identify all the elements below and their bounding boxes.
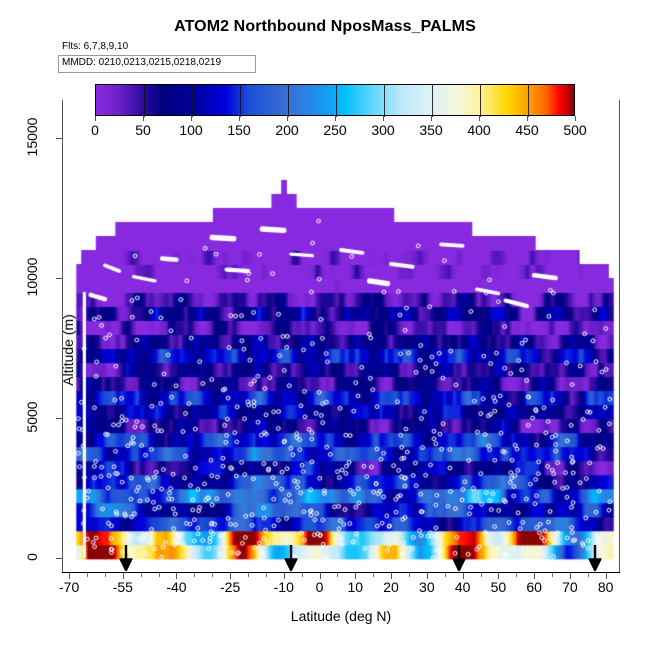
figure-root: ATOM2 Northbound NposMass_PALMS Flts: 6,… (0, 0, 650, 650)
x-axis-tick (409, 573, 410, 577)
y-axis-tick (56, 138, 62, 139)
x-axis-tick-label: -10 (274, 579, 294, 595)
x-axis-tick-label: -40 (166, 579, 186, 595)
x-axis-tick (552, 573, 553, 577)
x-axis-tick (302, 573, 303, 577)
x-axis-tick-label: 70 (562, 579, 578, 595)
x-axis-tick (516, 573, 517, 577)
x-axis-tick (105, 573, 106, 577)
y-axis-tick-label: 0 (24, 535, 40, 579)
x-axis-tick-label: 30 (419, 579, 435, 595)
page-title: ATOM2 Northbound NposMass_PALMS (0, 18, 650, 36)
y-axis-tick-label: 5000 (24, 395, 40, 439)
x-axis-tick-label: 10 (348, 579, 364, 595)
x-axis-tick (159, 573, 160, 577)
flights-label: Flts: 6,7,8,9,10 (62, 41, 128, 52)
x-axis-tick-label: 40 (455, 579, 471, 595)
x-axis-tick-label: 0 (316, 579, 324, 595)
x-axis-tick (248, 573, 249, 577)
x-axis-tick (266, 573, 267, 577)
y-axis-label: Altitude (m) (60, 314, 76, 386)
x-axis-tick-label: -70 (59, 579, 79, 595)
latitude-arrow-marker (588, 545, 601, 571)
y-axis-tick-label: 15000 (24, 115, 40, 159)
mmdd-label: MMDD: 0210,0213,0215,0218,0219 (62, 57, 221, 68)
x-axis-tick-label: -25 (220, 579, 240, 595)
x-axis-tick (588, 573, 589, 577)
x-axis-tick-label: 50 (491, 579, 507, 595)
latitude-arrow-marker (120, 545, 133, 571)
y-axis-tick (56, 558, 62, 559)
x-axis-tick (373, 573, 374, 577)
latitude-arrow-marker (284, 545, 297, 571)
x-axis-tick-label: 60 (526, 579, 542, 595)
x-axis-tick-label: 80 (598, 579, 614, 595)
latitude-arrow-marker (453, 545, 466, 571)
x-axis-tick (141, 573, 142, 577)
y-axis-tick-label: 10000 (24, 255, 40, 299)
x-axis-tick (194, 573, 195, 577)
heatmap-canvas (63, 100, 619, 572)
x-axis-line (62, 572, 620, 573)
x-axis-tick-label: 20 (383, 579, 399, 595)
plot-area: 050001000015000 -70-55-40-25-10010203040… (62, 100, 620, 573)
x-axis-tick (337, 573, 338, 577)
plot-right-border (619, 100, 620, 573)
x-axis-tick (445, 573, 446, 577)
x-axis-tick-label: -55 (113, 579, 133, 595)
y-axis-tick (56, 418, 62, 419)
y-axis-tick (56, 278, 62, 279)
x-axis-tick (212, 573, 213, 577)
x-axis-tick (87, 573, 88, 577)
x-axis-tick (481, 573, 482, 577)
x-axis-label: Latitude (deg N) (62, 608, 620, 624)
heatmap-holder (63, 100, 619, 572)
